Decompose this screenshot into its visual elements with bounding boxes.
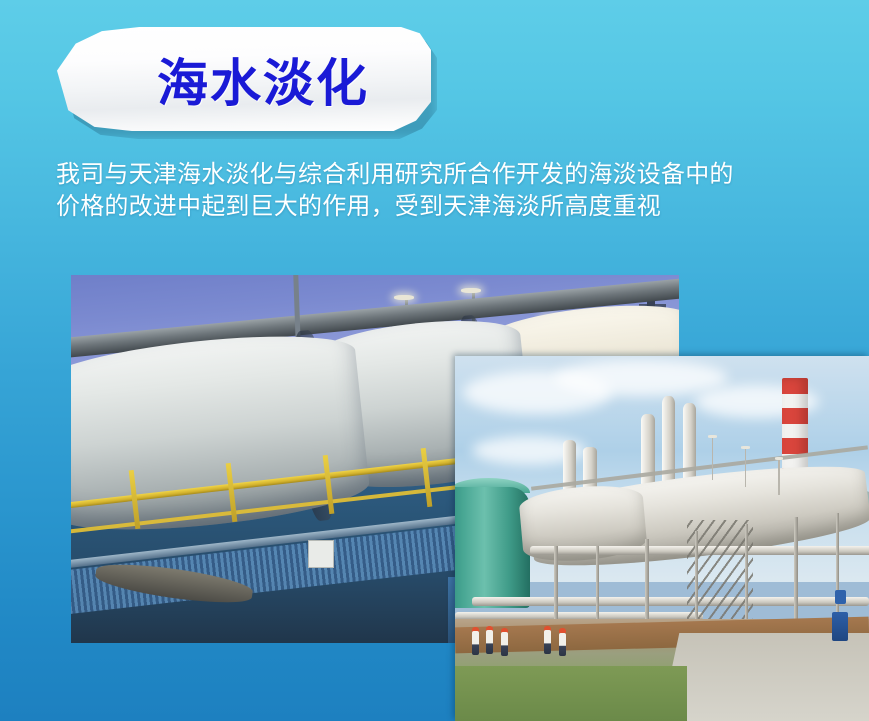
- p2-light-head-3: [775, 457, 783, 460]
- p1-control-box: [308, 540, 334, 568]
- p2-worker-3: [501, 632, 508, 656]
- p2-striped-chimney: [782, 378, 808, 477]
- p2-light-head-2: [741, 446, 749, 449]
- p2-green-storage-tank: [455, 487, 530, 607]
- p2-concrete-road: [661, 633, 869, 721]
- p2-grass-patch: [455, 666, 687, 721]
- slide-page: 海水淡化 我司与天津海水淡化与综合利用研究所合作开发的海淡设备中的 价格的改进中…: [0, 0, 869, 721]
- p2-support-leg-1: [554, 546, 557, 626]
- page-title: 海水淡化: [57, 27, 431, 131]
- p2-worker-1: [472, 631, 479, 655]
- p2-light-pole-3: [778, 458, 780, 495]
- p2-blue-container: [832, 612, 849, 641]
- photo-2-artwork: [455, 356, 869, 721]
- p2-blue-sign: [835, 590, 846, 605]
- description-text: 我司与天津海水淡化与综合利用研究所合作开发的海淡设备中的 价格的改进中起到巨大的…: [56, 158, 869, 222]
- p2-light-pole-1: [712, 436, 714, 480]
- description-line-2: 价格的改进中起到巨大的作用，受到天津海淡所高度重视: [56, 190, 869, 222]
- p2-worker-5: [559, 633, 566, 657]
- p2-column-4: [662, 396, 675, 491]
- p2-cloud-2: [554, 360, 728, 397]
- p2-support-leg-2: [596, 546, 599, 626]
- p2-light-head-1: [708, 435, 716, 438]
- p2-pipe-run-2: [472, 597, 869, 606]
- p2-support-leg-3: [645, 539, 648, 627]
- photo-desalination-plant-daytime: [455, 356, 869, 721]
- p1-lamp-head-2: [461, 288, 480, 293]
- p2-support-leg-6: [794, 517, 797, 627]
- p2-support-leg-5: [745, 524, 748, 626]
- p2-light-pole-2: [745, 447, 747, 487]
- p2-worker-2: [486, 630, 493, 654]
- p2-support-leg-7: [836, 513, 839, 626]
- p2-worker-4: [544, 630, 551, 654]
- title-banner: 海水淡化: [57, 27, 437, 139]
- p2-support-leg-4: [695, 531, 698, 626]
- description-line-1: 我司与天津海水淡化与综合利用研究所合作开发的海淡设备中的: [56, 158, 869, 190]
